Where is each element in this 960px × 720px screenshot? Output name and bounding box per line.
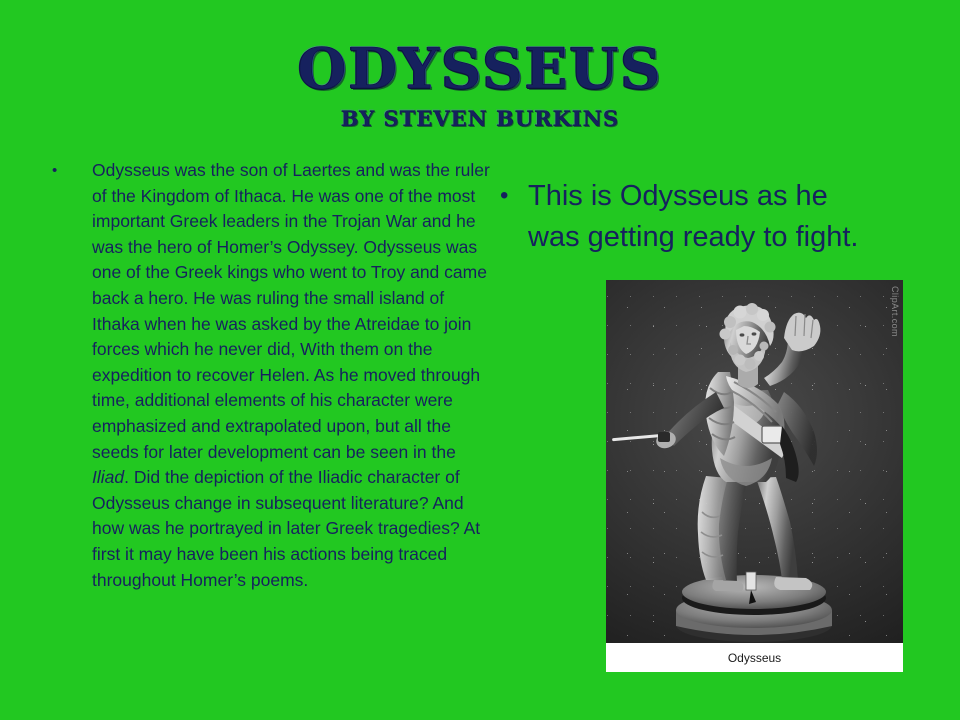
left-text-bullet-block: • Odysseus was the son of Laertes and wa… [52,158,497,593]
title-area: ODYSSEUS BY STEVEN BURKINS [0,38,960,132]
iliad-title-italic: Iliad [92,467,124,487]
odysseus-statue-photo: ClipArt.com [606,280,903,643]
odysseus-image-frame: ClipArt.com Odysseus [606,280,903,672]
biography-paragraph: Odysseus was the son of Laertes and was … [92,158,492,593]
biography-text-part-1: Odysseus was the son of Laertes and was … [92,160,490,462]
statue-illustration [606,280,903,643]
author-byline: BY STEVEN BURKINS [0,106,960,132]
clipart-watermark: ClipArt.com [890,286,900,337]
bullet-icon: • [500,184,528,208]
presentation-slide: ODYSSEUS BY STEVEN BURKINS • Odysseus wa… [0,0,960,720]
photo-caption-label: Odysseus [728,651,781,665]
bullet-icon: • [52,163,92,178]
biography-text-part-2: . Did the depiction of the Iliadic chara… [92,467,480,589]
photo-caption-bar: Odysseus [606,643,903,672]
right-text-bullet-block: • This is Odysseus as he was getting rea… [500,176,900,258]
image-description-text: This is Odysseus as he was getting ready… [528,176,878,258]
page-title: ODYSSEUS [0,38,960,100]
